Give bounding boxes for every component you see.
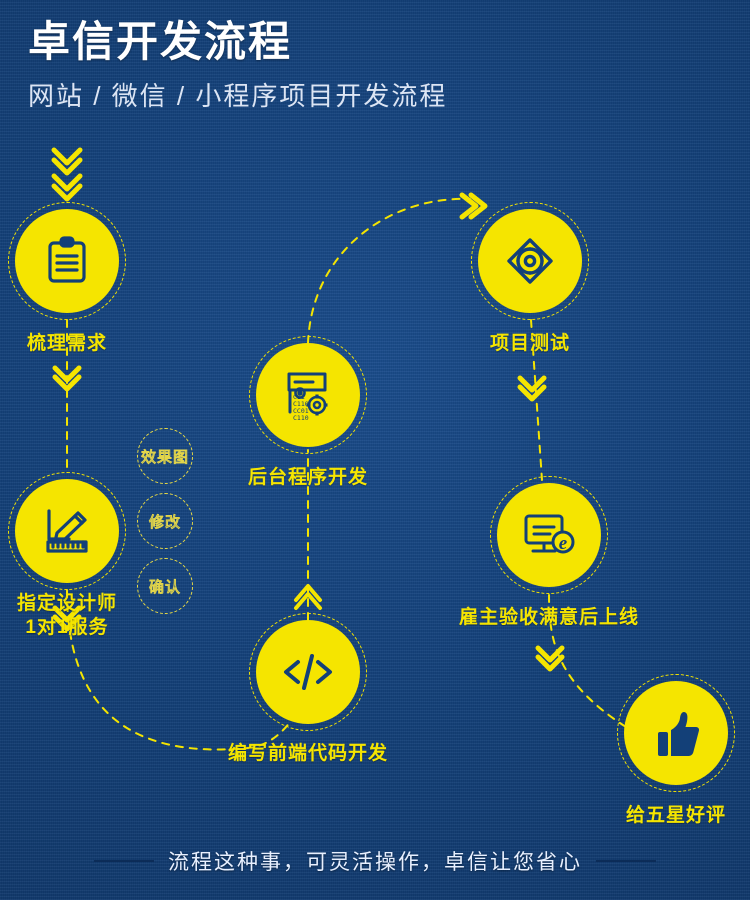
chevron-down-icon [520,378,544,399]
node-disc[interactable] [15,209,119,313]
code-gears-icon: C11 C110 CC01 C110 [281,368,335,422]
footer: 流程这种事，可灵活操作，卓信让您省心 [0,846,750,876]
monitor-e-icon: e [520,508,578,562]
svg-text:e: e [559,533,568,554]
node-disc[interactable] [15,479,119,583]
node-label: 雇主验收满意后上线 [459,606,639,630]
design-bubble-confirm[interactable]: 确认 [137,558,193,614]
footer-text: 流程这种事，可灵活操作，卓信让您省心 [168,846,582,876]
target-diamond-icon [503,234,557,288]
chevron-right-icon [462,195,485,217]
design-bubble-revise[interactable]: 修改 [137,493,193,549]
connector-3-5 [308,199,470,343]
footer-rule-left [94,860,154,862]
node-disc[interactable] [624,681,728,785]
node-label: 指定设计师 1对1服务 [0,592,139,640]
design-bubble-label: 修改 [149,511,181,532]
infographic-page: 卓信开发流程 网站 / 微信 / 小程序项目开发流程 [0,0,750,900]
node-disc[interactable] [256,620,360,724]
node-disc[interactable] [478,209,582,313]
thumbs-up-icon [649,706,703,760]
design-bubble-label: 效果图 [141,446,189,467]
footer-rule-right [596,860,656,862]
node-label: 后台程序开发 [233,466,383,490]
chevron-down-icon [538,648,562,669]
node-label: 梳理需求 [0,332,134,356]
clipboard-icon [41,235,93,287]
ruler-pencil-icon [39,503,95,559]
node-label: 给五星好评 [611,804,741,828]
node-disc[interactable]: e [497,483,601,587]
chevron-down-icon [55,368,79,389]
svg-text:C110: C110 [293,414,309,422]
node-label: 编写前端代码开发 [218,742,398,766]
design-bubble-effect[interactable]: 效果图 [137,428,193,484]
design-bubble-label: 确认 [149,576,181,597]
code-tags-icon [279,643,337,701]
node-label: 项目测试 [463,332,597,356]
chevron-down-icon [54,150,80,173]
node-disc[interactable]: C11 C110 CC01 C110 [256,343,360,447]
chevron-down-icon [54,176,80,199]
